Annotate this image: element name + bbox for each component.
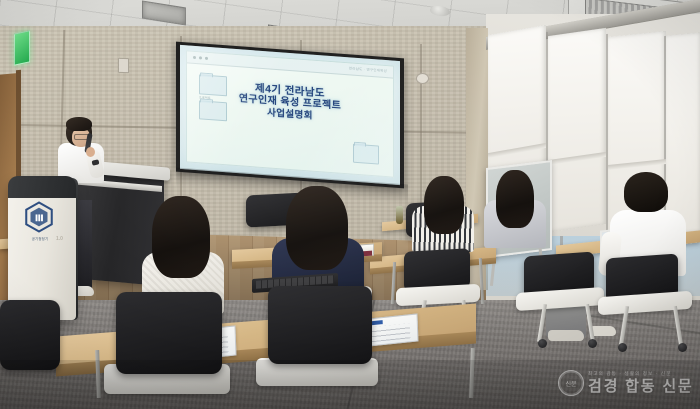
- chair-caster: [618, 343, 627, 352]
- hexagon-logo-icon: [22, 200, 56, 234]
- speaker-hair: [66, 117, 92, 131]
- speaker-hand: [86, 147, 95, 157]
- chair[interactable]: [268, 286, 372, 364]
- green-dot-icon: [205, 57, 208, 60]
- window-blind[interactable]: [548, 28, 606, 232]
- blind-divider: [606, 34, 608, 234]
- air-purifier-caption: 공기청정기: [20, 236, 60, 241]
- wall-socket-icon: [118, 58, 129, 73]
- attendee-hair: [424, 176, 464, 234]
- chair-caster: [588, 339, 597, 348]
- red-dot-icon: [193, 56, 196, 59]
- exit-sign-icon: [14, 30, 30, 65]
- folder-icon: [353, 144, 379, 165]
- watermark: 신문 최고의 감동 · 생활의 정보 · 신문 검경 합동 신문: [558, 366, 694, 400]
- attendee-hair: [496, 170, 534, 228]
- watermark-name: 검경 합동 신문: [588, 379, 694, 394]
- air-purifier-badge: 1.0: [56, 236, 63, 242]
- air-purifier-top: [8, 176, 76, 198]
- attendee-shoe: [548, 330, 584, 341]
- chair-caster: [538, 339, 547, 348]
- watermark-text: 최고의 감동 · 생활의 정보 · 신문 검경 합동 신문: [588, 372, 694, 394]
- drink-bottle[interactable]: [396, 206, 403, 224]
- attendee-hair: [152, 196, 210, 278]
- projected-slide: 전라남도 · 연구인재육성 프로젝트 제4기 전라남도 연구인재 육성 프로젝트…: [186, 50, 394, 177]
- yellow-dot-icon: [199, 56, 202, 59]
- attendee-hair: [624, 172, 668, 212]
- chair-caster: [678, 343, 687, 352]
- slide-brand-label: 전라남도 · 연구인재육성: [349, 65, 387, 73]
- newspaper-seal-icon: 신문: [558, 370, 584, 396]
- attendee-hair: [286, 186, 348, 270]
- photo-scene: 전라남도 · 연구인재육성 프로젝트 제4기 전라남도 연구인재 육성 프로젝트…: [0, 0, 700, 409]
- watermark-tagline: 최고의 감동 · 생활의 정보 · 신문: [588, 372, 694, 377]
- wall-socket-icon: [416, 73, 429, 84]
